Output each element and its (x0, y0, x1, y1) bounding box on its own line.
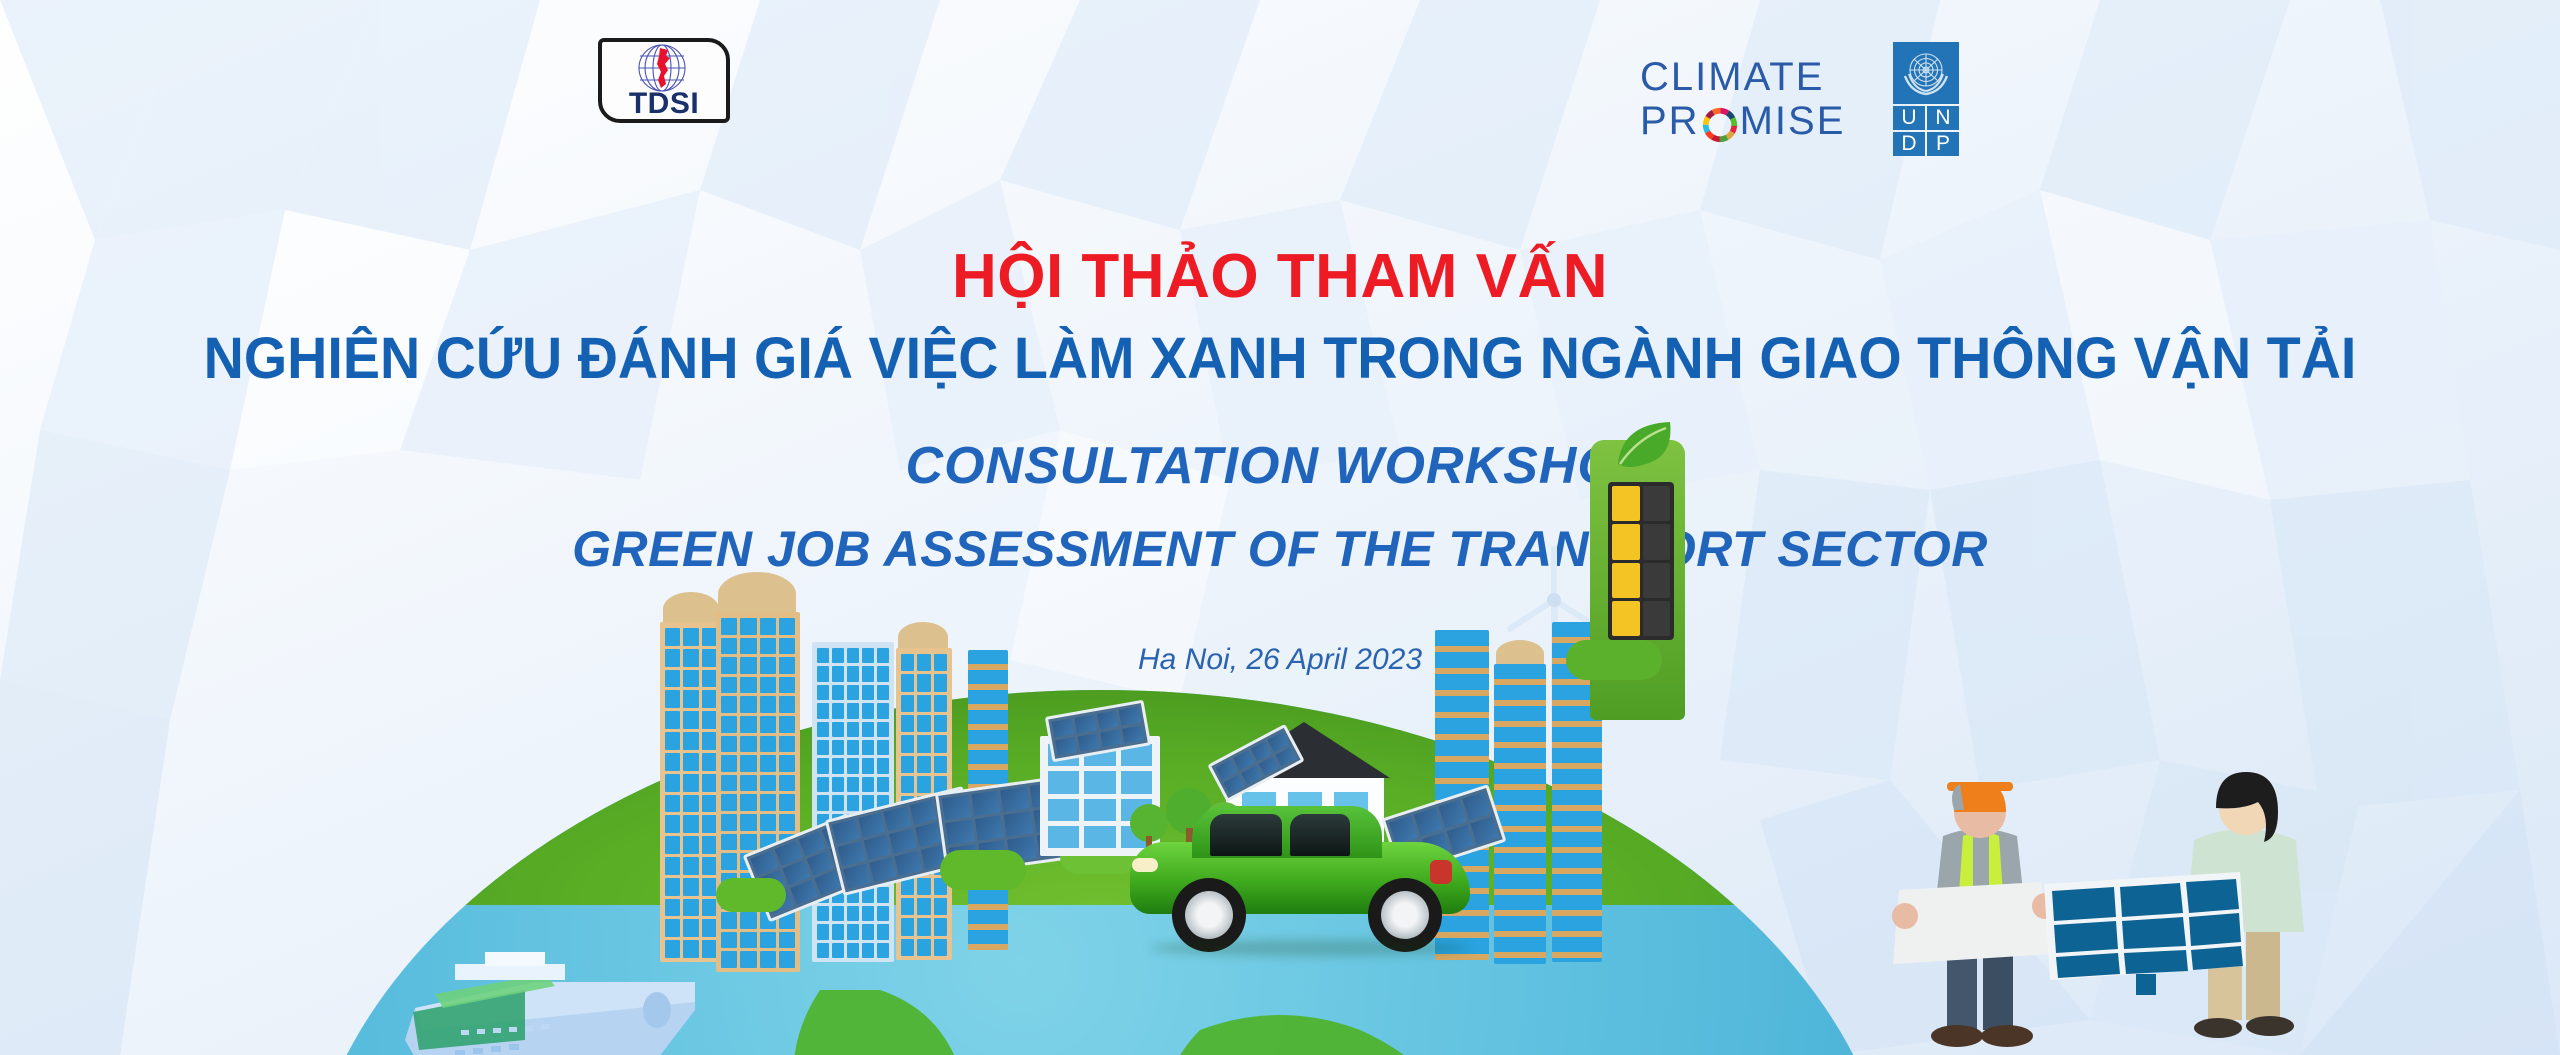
sdg-wheel-icon (1701, 106, 1739, 144)
ev-charging-tower-icon (1590, 440, 1685, 720)
charger-bush (1566, 640, 1662, 680)
undp-cell-n: N (1927, 106, 1959, 130)
un-emblem-icon (1893, 42, 1959, 104)
large-solar-panel-icon (2040, 870, 2250, 995)
climate-promise-line2: PR MISE (1640, 99, 1880, 143)
building-dome (663, 592, 719, 626)
page-title-vietnamese-red: HỘI THẢO THAM VẤN (0, 246, 2560, 308)
climate-promise-line2-before: PR (1640, 99, 1700, 143)
car-window-rear (1290, 814, 1350, 856)
building (1494, 664, 1546, 964)
building-dome (718, 572, 796, 616)
building (812, 642, 894, 962)
car-shadow (1150, 940, 1470, 956)
undp-logo: U N D P (1893, 42, 1993, 154)
undp-cell-d: D (1893, 132, 1925, 156)
undp-cell-u: U (1893, 106, 1925, 130)
green-electric-car-icon (1130, 800, 1480, 950)
climate-promise-line2-after: MISE (1740, 99, 1846, 143)
leaf-icon (1608, 418, 1678, 474)
car-window-front (1210, 814, 1282, 856)
car-headlight (1132, 858, 1158, 872)
climate-promise-logo: CLIMATE PR MISE (1640, 55, 1880, 147)
event-banner: TDSI CLIMATE PR (0, 0, 2560, 1055)
page-subtitle-vietnamese: NGHIÊN CỨU ĐÁNH GIÁ VIỆC LÀM XANH TRONG … (51, 330, 2509, 388)
charger-screen (1608, 482, 1674, 640)
bush (940, 850, 1026, 890)
un-emblem-block (1893, 42, 1959, 104)
cruise-ship-icon (395, 890, 735, 1055)
car-taillight (1430, 860, 1452, 884)
climate-promise-line1: CLIMATE (1640, 55, 1880, 99)
globe-vietnam-icon (624, 42, 700, 92)
tdsi-logo: TDSI (598, 38, 730, 123)
page-title-english: CONSULTATION WORKSHOP (0, 440, 2560, 492)
tdsi-logo-text: TDSI (598, 89, 730, 119)
building-windows (817, 648, 889, 958)
undp-cell-p: P (1927, 132, 1959, 156)
